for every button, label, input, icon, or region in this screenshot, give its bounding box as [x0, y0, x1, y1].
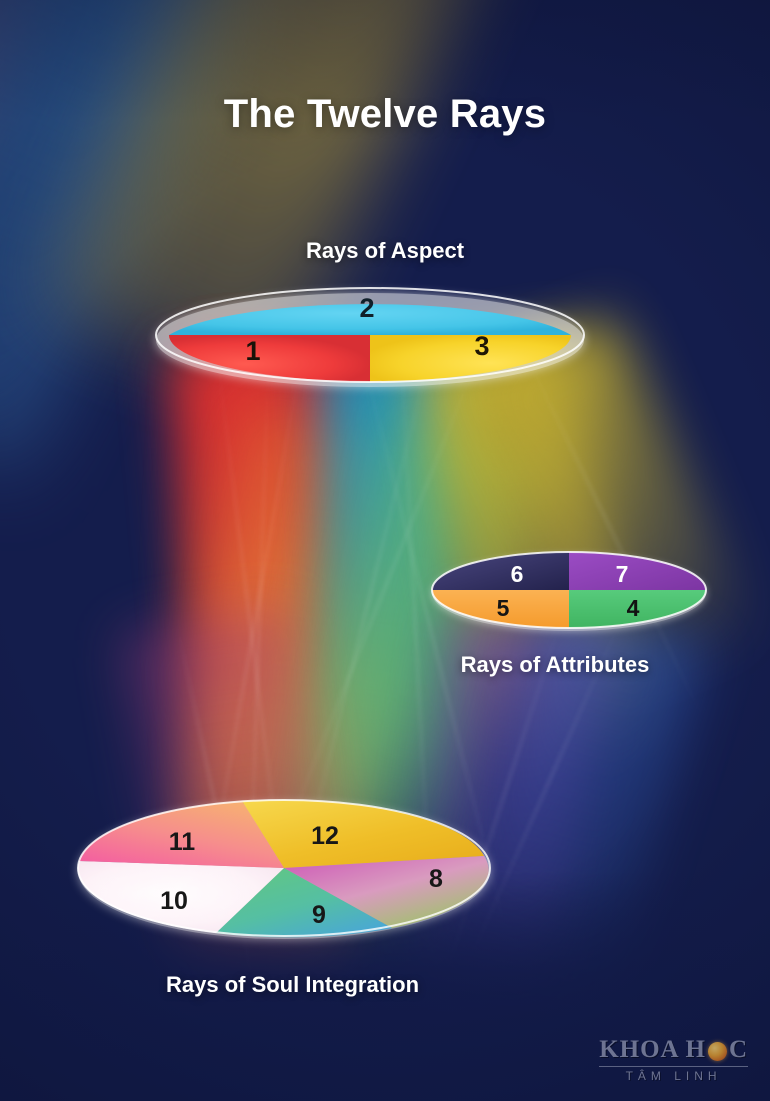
- segment-label-4: 4: [627, 595, 640, 621]
- segment-label-6: 6: [511, 561, 524, 587]
- segment-label-1: 1: [245, 336, 260, 366]
- infographic-canvas: The Twelve Rays Rays of Aspect: [0, 0, 770, 1101]
- segment-ray-12: [242, 800, 484, 868]
- watermark-text-khoa-ho: KHOA H: [599, 1036, 706, 1064]
- segment-label-5: 5: [497, 595, 510, 621]
- globe-icon: [708, 1042, 727, 1061]
- watermark-logo: KHOA H C TÂM LINH: [599, 1036, 748, 1083]
- caption-rays-of-aspect: Rays of Aspect: [0, 238, 770, 264]
- caption-rays-of-attributes: Rays of Attributes: [0, 652, 770, 678]
- segment-label-7: 7: [616, 561, 629, 587]
- caption-rays-of-soul-integration: Rays of Soul Integration: [0, 972, 770, 998]
- disc-rays-of-attributes: 6 7 5 4: [428, 548, 710, 634]
- segment-label-9: 9: [312, 901, 326, 929]
- segment-label-3: 3: [474, 331, 489, 361]
- segment-label-2: 2: [359, 293, 374, 323]
- watermark-text-c: C: [729, 1036, 748, 1064]
- disc-rays-of-aspect: 1 2 3: [152, 283, 588, 387]
- segment-label-12: 12: [311, 822, 339, 850]
- watermark-line1: KHOA H C: [599, 1036, 748, 1064]
- disc-rays-of-soul-integration: 12 8 9 10 11: [74, 798, 494, 938]
- segment-label-10: 10: [160, 887, 188, 915]
- watermark-line2: TÂM LINH: [599, 1069, 748, 1083]
- page-title: The Twelve Rays: [0, 92, 770, 137]
- segment-label-8: 8: [429, 865, 443, 893]
- watermark-divider: [599, 1066, 748, 1067]
- segment-label-11: 11: [169, 828, 196, 856]
